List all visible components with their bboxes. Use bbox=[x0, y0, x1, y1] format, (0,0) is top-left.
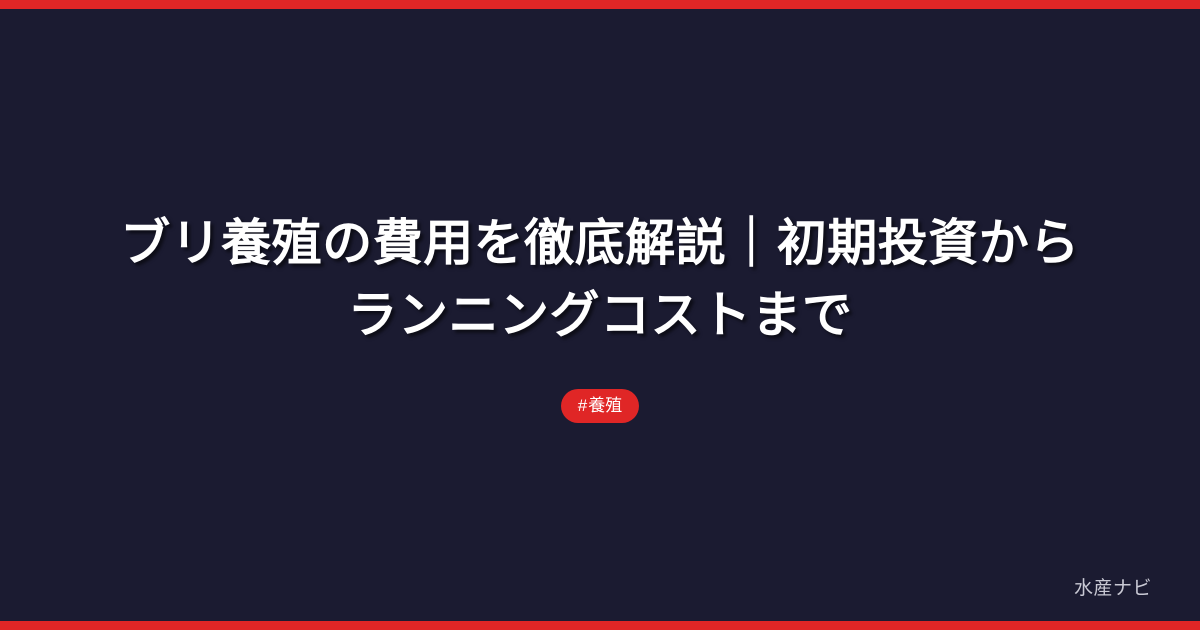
title-line-1: ブリ養殖の費用を徹底解説｜初期投資から bbox=[120, 215, 1080, 271]
category-tag-badge[interactable]: #養殖 bbox=[561, 389, 639, 423]
bottom-accent-bar bbox=[0, 621, 1200, 630]
category-tag-label: 養殖 bbox=[588, 397, 622, 414]
ogp-card: ブリ養殖の費用を徹底解説｜初期投資から ランニングコストまで #養殖 水産ナビ bbox=[0, 0, 1200, 630]
site-name: 水産ナビ bbox=[1074, 579, 1152, 598]
card-content: ブリ養殖の費用を徹底解説｜初期投資から ランニングコストまで #養殖 bbox=[0, 0, 1200, 630]
title-line-2: ランニングコストまで bbox=[348, 287, 853, 343]
tag-row: #養殖 bbox=[561, 389, 639, 423]
page-title: ブリ養殖の費用を徹底解説｜初期投資から ランニングコストまで bbox=[120, 207, 1080, 351]
hash-icon: # bbox=[578, 397, 587, 414]
